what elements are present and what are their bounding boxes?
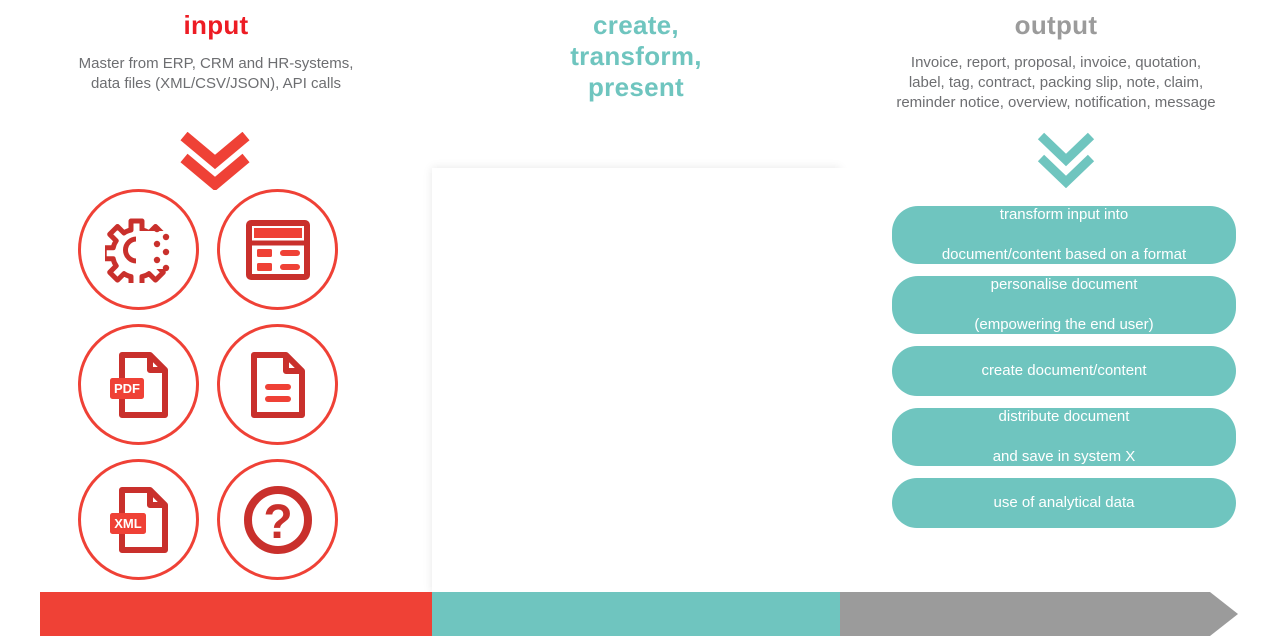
input-title: input — [0, 0, 432, 41]
input-icon-grid: PDF XML ? — [78, 189, 356, 580]
double-chevron-down-icon — [178, 132, 252, 190]
output-subtitle-line-2: label, tag, contract, packing slip, note… — [854, 73, 1258, 93]
form-table-icon — [246, 220, 310, 280]
pdf-file-icon: PDF — [106, 351, 172, 419]
pdf-badge-label: PDF — [114, 381, 140, 396]
input-icon-xml-file[interactable]: XML — [78, 459, 199, 580]
create-title-line-1: create, — [432, 10, 840, 41]
input-icon-form-table[interactable] — [217, 189, 338, 310]
input-subtitle: Master from ERP, CRM and HR-systems, dat… — [0, 54, 432, 94]
create-title-line-2: transform, — [432, 41, 840, 72]
output-title: output — [840, 0, 1272, 41]
create-title-line-3: present — [432, 72, 840, 103]
input-subtitle-line-2: data files (XML/CSV/JSON), API calls — [14, 74, 418, 94]
input-subtitle-line-1: Master from ERP, CRM and HR-systems, — [14, 54, 418, 74]
input-icon-question-mark[interactable]: ? — [217, 459, 338, 580]
bar-segment-output — [840, 592, 1238, 636]
output-subtitle-line-1: Invoice, report, proposal, invoice, quot… — [854, 53, 1258, 73]
question-mark-icon: ? — [239, 481, 317, 559]
create-column: create, transform, present transform inp… — [432, 0, 840, 592]
gear-data-icon — [105, 217, 173, 283]
output-subtitle: Invoice, report, proposal, invoice, quot… — [840, 53, 1272, 113]
input-icon-gear-data[interactable] — [78, 189, 199, 310]
bar-segment-input — [40, 592, 460, 636]
create-title: create, transform, present — [432, 0, 840, 103]
xml-badge-label: XML — [114, 516, 142, 531]
input-icon-text-document[interactable] — [217, 324, 338, 445]
bar-segment-create — [432, 592, 868, 636]
input-column: input Master from ERP, CRM and HR-system… — [0, 0, 432, 592]
xml-file-icon: XML — [106, 486, 172, 554]
process-flow-arrow-bar — [0, 592, 1272, 636]
output-column: output Invoice, report, proposal, invoic… — [840, 0, 1272, 592]
text-document-icon — [249, 351, 307, 419]
output-subtitle-line-3: reminder notice, overview, notification,… — [854, 93, 1258, 113]
input-icon-pdf-file[interactable]: PDF — [78, 324, 199, 445]
question-mark-glyph: ? — [263, 496, 292, 549]
